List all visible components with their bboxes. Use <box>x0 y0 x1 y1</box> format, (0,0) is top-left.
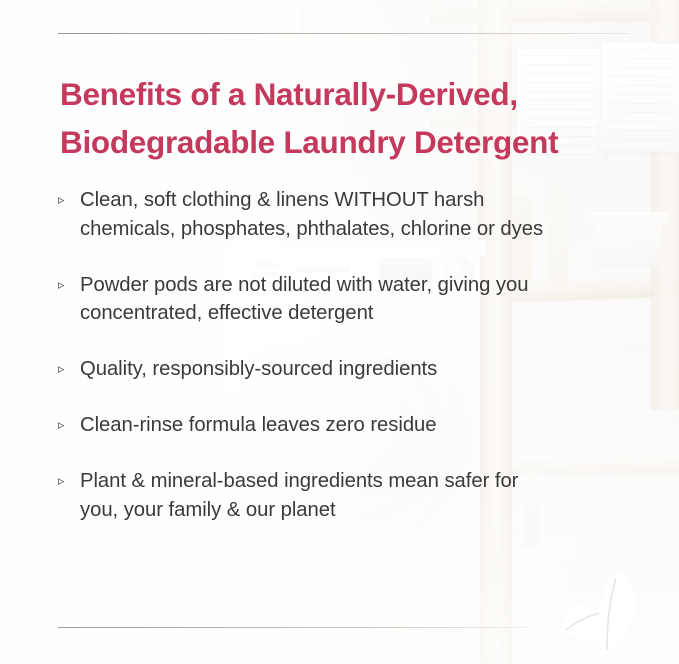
divider-top <box>58 33 630 34</box>
list-item-text: Clean-rinse formula leaves zero residue <box>80 414 437 436</box>
benefits-list: ▹ Clean, soft clothing & linens WITHOUT … <box>58 186 558 525</box>
poster-content: Benefits of a Naturally-Derived,Biodegra… <box>0 0 679 664</box>
list-item: ▹ Clean-rinse formula leaves zero residu… <box>58 411 558 440</box>
page-title: Benefits of a Naturally-Derived,Biodegra… <box>60 70 640 166</box>
list-item-text: Powder pods are not diluted with water, … <box>80 274 528 325</box>
triangle-bullet-icon: ▹ <box>58 187 64 212</box>
list-item: ▹ Plant & mineral-based ingredients mean… <box>58 467 558 525</box>
leaf-logo <box>556 568 652 654</box>
list-item: ▹ Quality, responsibly-sourced ingredien… <box>58 355 558 384</box>
page-title-line-1: Benefits of a Naturally-Derived, <box>60 76 518 112</box>
triangle-bullet-icon: ▹ <box>58 468 64 493</box>
page-title-line-2: Biodegradable Laundry Detergent <box>60 124 558 160</box>
triangle-bullet-icon: ▹ <box>58 272 64 297</box>
benefits-poster: Benefits of a Naturally-Derived,Biodegra… <box>0 0 679 664</box>
divider-bottom <box>58 627 530 628</box>
list-item: ▹ Powder pods are not diluted with water… <box>58 271 558 329</box>
leaf-logo-icon <box>556 568 652 654</box>
triangle-bullet-icon: ▹ <box>58 356 64 381</box>
list-item-text: Plant & mineral-based ingredients mean s… <box>80 470 518 521</box>
triangle-bullet-icon: ▹ <box>58 412 64 437</box>
list-item: ▹ Clean, soft clothing & linens WITHOUT … <box>58 186 558 244</box>
list-item-text: Clean, soft clothing & linens WITHOUT ha… <box>80 189 543 240</box>
list-item-text: Quality, responsibly-sourced ingredients <box>80 358 437 380</box>
